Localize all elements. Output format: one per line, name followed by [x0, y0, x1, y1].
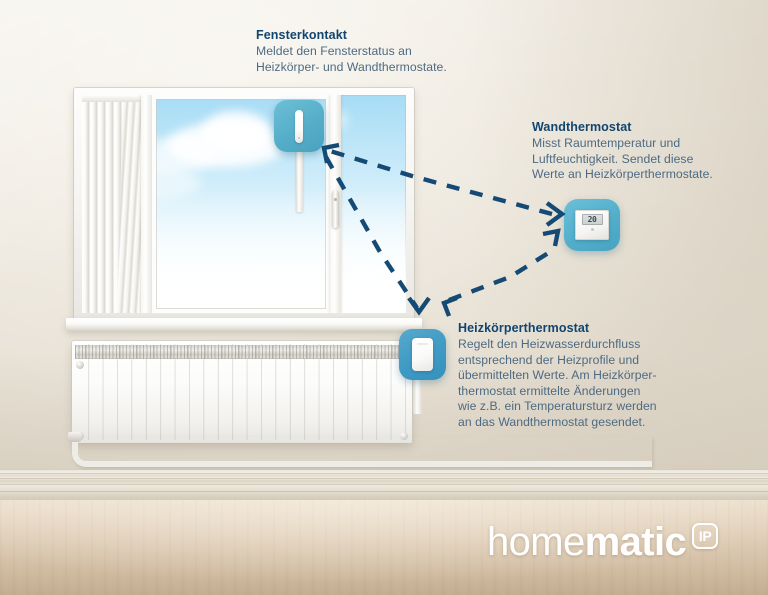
callout-wall-thermostat-body: Misst Raumtemperatur und Luftfeuchtigkei… — [532, 136, 764, 183]
wall-thermostat-temperature: 20 — [588, 216, 597, 224]
radiator-thermostat-stem — [413, 378, 422, 414]
radiator-pipe — [72, 437, 652, 467]
logo-word-matic: matic — [585, 520, 687, 564]
window-glass — [82, 95, 406, 313]
wall-thermostat-button — [591, 228, 594, 231]
callout-radiator-thermostat: Heizkörperthermostat Regelt den Heizwass… — [458, 321, 708, 431]
radiator-grille — [75, 345, 409, 359]
callout-radiator-thermostat-title: Heizkörperthermostat — [458, 321, 708, 336]
window-contact-magnet — [296, 150, 303, 212]
logo-ip-text: IP — [699, 528, 712, 544]
radiator-thermostat-body — [412, 338, 433, 371]
radiator-thermostat-icon[interactable] — [399, 329, 446, 380]
homematic-ip-logo: homematic IP — [487, 521, 718, 563]
window — [74, 88, 414, 321]
logo-ip-badge: IP — [692, 523, 718, 549]
vertical-blinds — [82, 95, 141, 313]
callout-wall-thermostat: Wandthermostat Misst Raumtemperatur und … — [532, 120, 764, 183]
room-illustration: 20 Fens — [0, 0, 768, 595]
radiator-valve — [68, 432, 81, 442]
window-sill — [66, 318, 422, 331]
callout-window-contact-body: Meldet den Fensterstatus an Heizkörper- … — [256, 44, 536, 75]
callout-radiator-thermostat-body: Regelt den Heizwasserdurchfluss entsprec… — [458, 337, 708, 431]
window-contact-sensor-bar — [295, 110, 303, 143]
callout-window-contact: Fensterkontakt Meldet den Fensterstatus … — [256, 28, 536, 75]
window-mullion-left — [141, 95, 152, 313]
wall-thermostat-display: 20 — [582, 214, 603, 225]
logo-wordmark: homematic — [487, 521, 686, 563]
window-contact-icon[interactable] — [274, 100, 324, 152]
wall-thermostat-body: 20 — [575, 210, 609, 240]
blinds-rail — [82, 95, 141, 102]
wall-thermostat-icon[interactable]: 20 — [564, 199, 620, 251]
radiator-cap — [76, 361, 84, 369]
window-handle[interactable] — [332, 190, 339, 228]
callout-window-contact-title: Fensterkontakt — [256, 28, 536, 43]
callout-wall-thermostat-title: Wandthermostat — [532, 120, 764, 135]
radiator — [72, 341, 412, 443]
logo-word-home: home — [487, 520, 585, 564]
skirting-board — [0, 470, 768, 504]
